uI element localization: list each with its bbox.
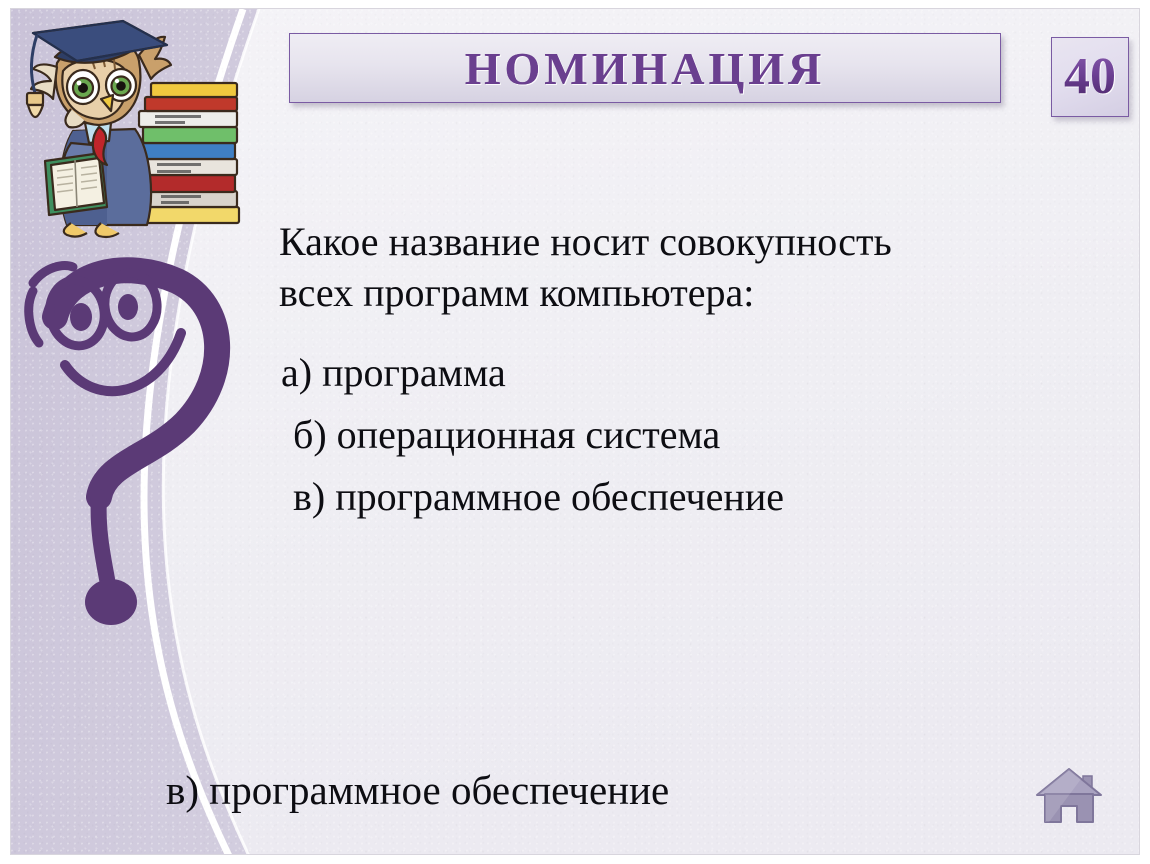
- home-icon[interactable]: [1033, 764, 1105, 826]
- option-b[interactable]: б) операционная система: [281, 404, 1081, 466]
- option-a[interactable]: а) программа: [281, 342, 1081, 404]
- slide-canvas: НОМИНАЦИЯ 40 Какое название носит совоку…: [10, 8, 1140, 855]
- score-badge[interactable]: 40: [1051, 37, 1129, 117]
- answer-options: а) программа б) операционная система в) …: [281, 342, 1081, 528]
- owl-scholar-icon: [15, 11, 247, 241]
- page-title: НОМИНАЦИЯ: [465, 42, 826, 95]
- option-c[interactable]: в) программное обеспечение: [281, 466, 1081, 528]
- slide-title-bar: НОМИНАЦИЯ: [289, 33, 1001, 103]
- smiling-question-mark-icon: [19, 257, 259, 645]
- quiz-slide: НОМИНАЦИЯ 40 Какое название носит совоку…: [0, 0, 1150, 864]
- revealed-answer: в) программное обеспечение: [166, 766, 669, 814]
- question-line-2: всех программ компьютера:: [279, 268, 1069, 319]
- question-line-1: Какое название носит совокупность: [279, 217, 1069, 268]
- question-text: Какое название носит совокупность всех п…: [279, 217, 1069, 319]
- score-value: 40: [1064, 51, 1116, 103]
